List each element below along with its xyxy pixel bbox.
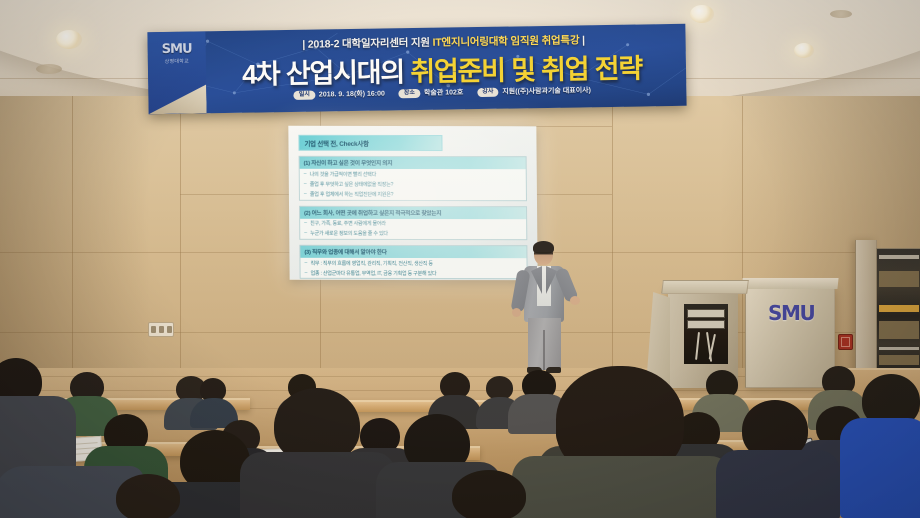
banner-info-place: 장소 학술관 102호 [399,87,464,98]
banner-title-yellow: 취업준비 및 취업 전략 [404,53,642,87]
wall-shading [0,96,150,386]
lecture-hall-photo: SMU 상명대학교 | 2018-2 대학일자리센터 지원 IT엔지니어링대학 … [0,0,920,518]
slide-section-heading: (2) 어느 회사, 어떤 곳에 취업하고 싶은지 적극적으로 찾았는지 [300,206,526,218]
speaker-glasses-icon [536,252,551,256]
banner-header-suffix: | [579,34,585,46]
ceiling-spotlight-icon [690,5,714,23]
slide-section: (2) 어느 회사, 어떤 곳에 취업하고 싶은지 적극적으로 찾았는지 친구,… [299,205,527,240]
podium-smu-logo: SMU [768,301,814,325]
projection-screen: 기업 선택 전, Check사항 (1) 자신이 하고 싶은 것이 무엇인지 의… [288,126,537,280]
slide-section: (3) 직무와 업종에 대해서 알아야 한다 직무 : 직무의 흐름에 영업직,… [299,245,527,280]
smu-logo-text: SMU [154,41,200,57]
slide-bullet: 졸업 후 무엇하고 싶은 상태에없을 직장는? [300,179,526,190]
banner-info-value: 지원((주)사람과기술 대표이사) [502,85,591,96]
presentation-slide: 기업 선택 전, Check사항 (1) 자신이 하고 싶은 것이 무엇인지 의… [298,135,527,272]
fire-alarm-box[interactable] [838,334,853,350]
wall-panel-seam [612,96,613,386]
banner-header-highlight: IT엔지니어링대학 임직원 취업특강 [432,34,579,48]
banner-info-date: 일시 2018. 9. 18(화) 16:00 [294,89,385,100]
wall-panel-seam [180,96,181,386]
ceiling-vent [36,64,62,74]
ceiling-spotlight-icon [56,30,82,49]
slide-section-heading: (1) 자신이 하고 싶은 것이 무엇인지 의지 [300,157,526,169]
slide-section-heading: (3) 직무와 업종에 대해서 알아야 한다 [300,246,526,258]
smu-wall-panel: SMU [745,286,835,388]
slide-bullet: 졸업 후 업체에서 하는 직업진단에 지원은? [300,189,526,200]
banner-info-label: 강사 [477,87,498,96]
banner-info-speaker: 강사 지원((주)사람과기술 대표이사) [477,85,591,97]
slide-section: (1) 자신이 하고 싶은 것이 무엇인지 의지 나의 것을 가급적이면 빨리 … [299,156,527,201]
banner-title-white: 4차 산업시대의 [242,57,404,90]
equipment-rack [684,304,728,364]
slide-title: 기업 선택 전, Check사항 [298,135,442,151]
wall-outlet[interactable] [148,322,174,337]
speaker-hand-right [570,296,580,305]
ceiling-spotlight-icon [794,43,814,58]
slide-bullet: 누군가 새로운 정보의 도움을 줄 수 있다 [300,229,526,240]
slide-bullet: 직무 : 직무의 흐름에 영업직, 관리직, 기획직, 전산직, 생산직 등 [300,258,526,269]
speaker-hand-left [512,308,521,317]
smu-logo-subtext: 상명대학교 [152,57,202,65]
notice-poster [876,248,920,372]
slide-bullet: 업종 : 산업군마다 유통업, 무역업, IT, 금융 기획업 등 구분해 있다 [301,268,527,279]
door-edge[interactable] [855,240,877,386]
banner-info-value: 2018. 9. 18(화) 16:00 [319,89,385,100]
ceiling-vent [830,10,852,18]
banner-header-prefix: | 2018-2 대학일자리센터 지원 [302,37,432,51]
banner-info-value: 학술관 102호 [424,87,464,98]
slide-bullet: 친구, 가족, 동료, 주변 사람에게 물어라 [300,218,526,229]
slide-bullet: 나의 것을 가급적이면 빨리 선택다 [300,169,526,180]
banner-info-label: 일시 [294,90,315,99]
event-banner: SMU 상명대학교 | 2018-2 대학일자리센터 지원 IT엔지니어링대학 … [147,24,686,114]
banner-university-logo: SMU 상명대학교 [147,31,206,114]
banner-info-label: 장소 [399,88,420,97]
